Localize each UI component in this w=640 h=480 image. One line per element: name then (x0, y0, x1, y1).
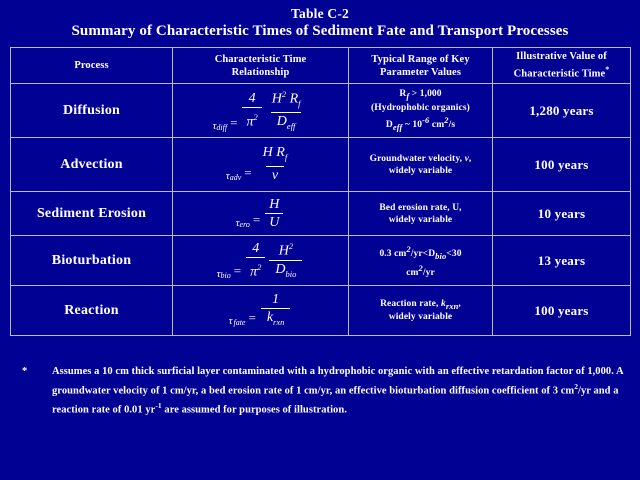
table-header: Process Characteristic Time Relationship… (11, 48, 631, 84)
equation-tau-diff: τdiff = 4 π2 H2 Rf Deff (212, 87, 308, 134)
param-line-2: widely variable (389, 215, 453, 225)
equals-sign: = (250, 212, 263, 231)
param-line-2: (Hydrophobic organics) (371, 103, 470, 113)
equals-sign: = (227, 115, 240, 134)
cell-value-sediment-erosion: 10 years (493, 192, 631, 236)
numerator: H2 (273, 239, 299, 260)
cell-process-bioturbation: Bioturbation (11, 236, 173, 286)
cell-params-sediment-erosion: Bed erosion rate, U, widely variable (349, 192, 493, 236)
cell-value-bioturbation: 13 years (493, 236, 631, 286)
equals-sign: = (241, 165, 254, 184)
table-body: Diffusion τdiff = 4 π2 H2 Rf Deff Rf > 1… (11, 84, 631, 336)
param-line-1: 0.3 cm2/yr<Dbio<30 (379, 249, 461, 259)
fraction-h-over-u: H U (265, 197, 283, 231)
cell-equation-advection: τadv = H Rf v (173, 138, 349, 192)
table-row: Advection τadv = H Rf v Groundwater velo… (11, 138, 631, 192)
equation-tau-fate: τ fate = 1 krxn (229, 292, 293, 330)
equation-lhs: τ fate (229, 315, 246, 329)
param-line-2: cm2/yr (406, 268, 435, 278)
cell-params-bioturbation: 0.3 cm2/yr<Dbio<30 cm2/yr (349, 236, 493, 286)
header-text-process: Process (74, 60, 108, 71)
table-row: Sediment Erosion τero = H U Bed erosion … (11, 192, 631, 236)
cell-equation-bioturbation: τbio = 4 π2 H2 Dbio (173, 236, 349, 286)
equation-lhs: τero (236, 217, 250, 231)
fraction-h2-over-dbio: H2 Dbio (269, 239, 302, 281)
column-header-relationship: Characteristic Time Relationship (173, 48, 349, 84)
denominator: Deff (271, 112, 302, 134)
denominator: v (266, 166, 284, 184)
header-text-params-l1: Typical Range of Key (371, 54, 469, 65)
fraction-4-over-pi-squared: 4 π2 (246, 241, 265, 281)
fraction-4-over-pi-squared: 4 π2 (242, 91, 261, 131)
header-text-relationship-l2: Relationship (232, 67, 290, 78)
header-text-params-l2: Parameter Values (380, 67, 461, 78)
footnote-marker-header: * (605, 65, 609, 74)
cell-process-advection: Advection (11, 138, 173, 192)
cell-process-diffusion: Diffusion (11, 84, 173, 138)
equals-sign: = (245, 310, 258, 329)
numerator: 4 (245, 91, 260, 107)
cell-equation-sediment-erosion: τero = H U (173, 192, 349, 236)
equation-tau-ero: τero = H U (236, 197, 286, 231)
column-header-process: Process (11, 48, 173, 84)
table-wrapper: Process Characteristic Time Relationship… (10, 47, 630, 336)
table-row: Diffusion τdiff = 4 π2 H2 Rf Deff Rf > 1… (11, 84, 631, 138)
column-header-parameter-values: Typical Range of Key Parameter Values (349, 48, 493, 84)
param-line-1: Rf > 1,000 (399, 89, 441, 99)
table-row: Bioturbation τbio = 4 π2 H2 Dbio 0.3 cm2… (11, 236, 631, 286)
fraction-h2rf-over-deff: H2 Rf Deff (266, 87, 307, 134)
header-row: Process Characteristic Time Relationship… (11, 48, 631, 84)
cell-value-advection: 100 years (493, 138, 631, 192)
numerator: H Rf (257, 145, 294, 166)
equation-lhs: τdiff (212, 120, 227, 134)
param-line-2: widely variable (389, 312, 453, 322)
numerator: H2 Rf (266, 87, 307, 112)
numerator: 1 (266, 292, 285, 308)
characteristic-times-table: Process Characteristic Time Relationship… (10, 47, 631, 336)
denominator: krxn (261, 308, 291, 330)
denominator: π2 (242, 107, 261, 131)
numerator: H (265, 197, 283, 213)
cell-equation-diffusion: τdiff = 4 π2 H2 Rf Deff (173, 84, 349, 138)
footnote: * Assumes a 10 cm thick surficial layer … (22, 365, 626, 418)
footnote-text: Assumes a 10 cm thick surficial layer co… (52, 365, 626, 418)
fraction-1-over-krxn: 1 krxn (261, 292, 291, 330)
cell-value-reaction: 100 years (493, 286, 631, 336)
equation-tau-adv: τadv = H Rf v (226, 145, 295, 184)
header-text-relationship-l1: Characteristic Time (215, 54, 307, 65)
equation-lhs: τbio (217, 268, 231, 282)
header-text-value-l2: Characteristic Time (514, 69, 606, 80)
denominator: Dbio (269, 260, 302, 282)
cell-params-diffusion: Rf > 1,000 (Hydrophobic organics) Deff ~… (349, 84, 493, 138)
cell-value-diffusion: 1,280 years (493, 84, 631, 138)
cell-equation-reaction: τ fate = 1 krxn (173, 286, 349, 336)
cell-params-advection: Groundwater velocity, v, widely variable (349, 138, 493, 192)
table-row: Reaction τ fate = 1 krxn Reaction rate, … (11, 286, 631, 336)
cell-params-reaction: Reaction rate, krxn, widely variable (349, 286, 493, 336)
table-number: Table C-2 (0, 5, 640, 22)
param-line-2: widely variable (389, 166, 453, 176)
denominator: U (265, 213, 283, 231)
cell-process-reaction: Reaction (11, 286, 173, 336)
param-line-1: Bed erosion rate, U, (379, 203, 461, 213)
param-line-1: Reaction rate, krxn, (380, 299, 461, 309)
param-line-3: Deff ~ 10-6 cm2/s (386, 120, 455, 130)
equals-sign: = (231, 263, 244, 282)
footnote-marker: * (22, 365, 40, 380)
equation-tau-bio: τbio = 4 π2 H2 Dbio (217, 239, 305, 281)
denominator: π2 (246, 257, 265, 281)
cell-process-sediment-erosion: Sediment Erosion (11, 192, 173, 236)
column-header-illustrative-value: Illustrative Value of Characteristic Tim… (493, 48, 631, 84)
header-text-value-l1: Illustrative Value of (516, 51, 607, 62)
param-line-1: Groundwater velocity, v, (370, 154, 472, 164)
fraction-hrf-over-v: H Rf v (257, 145, 294, 184)
page-title: Summary of Characteristic Times of Sedim… (0, 22, 640, 41)
title-block: Table C-2 Summary of Characteristic Time… (0, 0, 640, 41)
equation-lhs: τadv (226, 170, 242, 184)
numerator: 4 (248, 241, 263, 257)
